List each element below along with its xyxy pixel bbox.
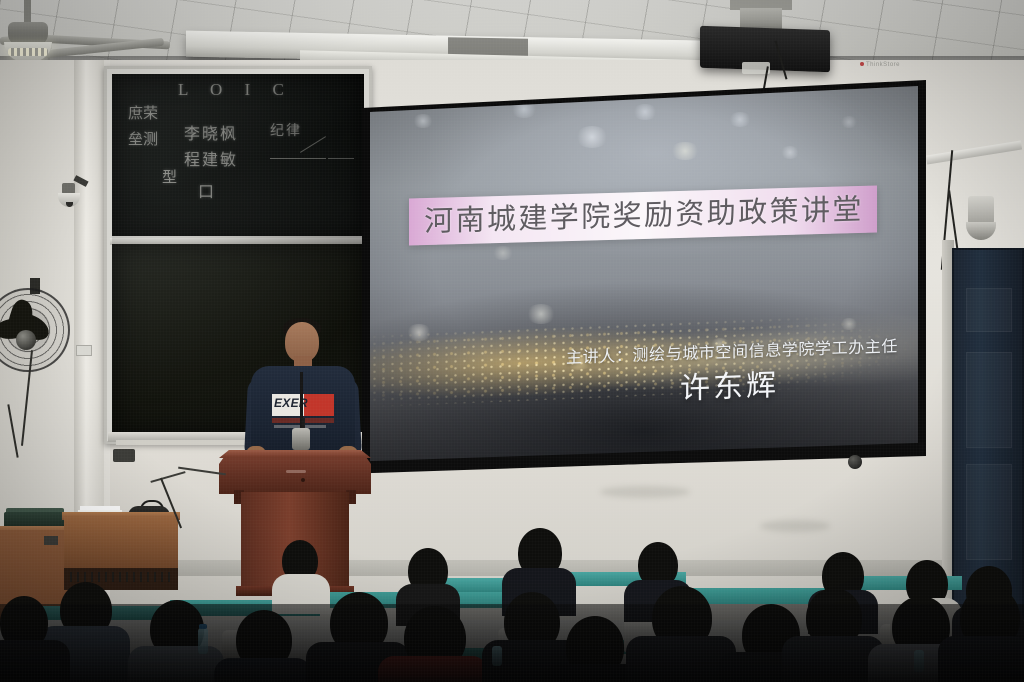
bokeh-dot — [575, 126, 609, 148]
projector-brand-label: ThinkStore — [866, 62, 900, 68]
wall-fan-hub — [16, 330, 36, 350]
door-panel — [966, 464, 1012, 560]
projection-screen-surface[interactable] — [370, 86, 918, 462]
wall-outlet — [76, 345, 92, 356]
bokeh-dot — [632, 104, 658, 120]
bokeh-dot — [728, 112, 752, 127]
wall-smudge — [760, 520, 830, 532]
podium-label-plate — [286, 470, 306, 473]
door-panel — [966, 352, 1012, 448]
bokeh-dot — [412, 114, 434, 128]
brand-logo-dot — [860, 62, 864, 66]
podium-cable-hole — [301, 478, 305, 482]
classroom-photo: L O I C 庶荣 李晓枫 纪律 垒测 程建敏 型 口 — [0, 0, 1024, 682]
chalk-tray-lip — [116, 440, 266, 445]
classroom-door[interactable] — [952, 248, 1024, 620]
door-panel — [966, 288, 1012, 332]
bokeh-dot — [670, 142, 700, 160]
slide-speaker-name: 许东辉 — [680, 357, 880, 408]
microphone-head — [292, 428, 310, 450]
podium-lip — [219, 450, 371, 458]
wall-smudge — [600, 486, 690, 498]
screen-roller-knob[interactable] — [848, 455, 862, 469]
wall-speaker — [968, 196, 994, 224]
desk-cables — [70, 572, 170, 582]
bokeh-dot — [780, 146, 800, 159]
wall-mounted-box — [113, 449, 135, 462]
bokeh-dot — [526, 304, 556, 324]
desk-latch — [44, 536, 58, 545]
bokeh-dot — [492, 246, 514, 260]
bokeh-dot — [840, 116, 858, 128]
ceiling-fan-lamp-bulbs — [8, 48, 48, 56]
foreground-shadow — [0, 604, 1024, 682]
